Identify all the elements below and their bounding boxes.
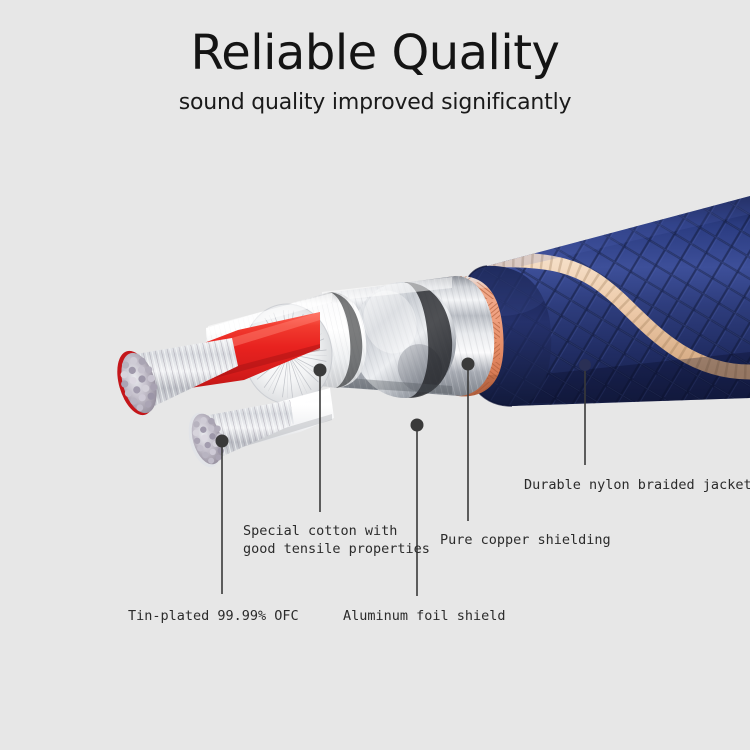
dot-special-cotton [314,364,327,377]
dot-aluminum-foil [411,419,424,432]
product-infographic-page: Reliable Quality sound quality improved … [0,0,750,750]
white-insulated-conductor [183,388,334,471]
callout-label-tin-plated-ofc: Tin-plated 99.99% OFC [128,607,299,625]
callout-label-special-cotton: Special cotton with good tensile propert… [243,522,430,558]
callout-label-durable-nylon-jacket: Durable nylon braided jacket [524,476,750,494]
dot-copper-shielding [462,358,475,371]
callout-label-pure-copper-shielding: Pure copper shielding [440,531,611,549]
dot-tin-plated-ofc [216,435,229,448]
dot-nylon-jacket [579,359,591,371]
callout-label-aluminum-foil-shield: Aluminum foil shield [343,607,506,625]
cable-cutaway-diagram [0,0,750,750]
